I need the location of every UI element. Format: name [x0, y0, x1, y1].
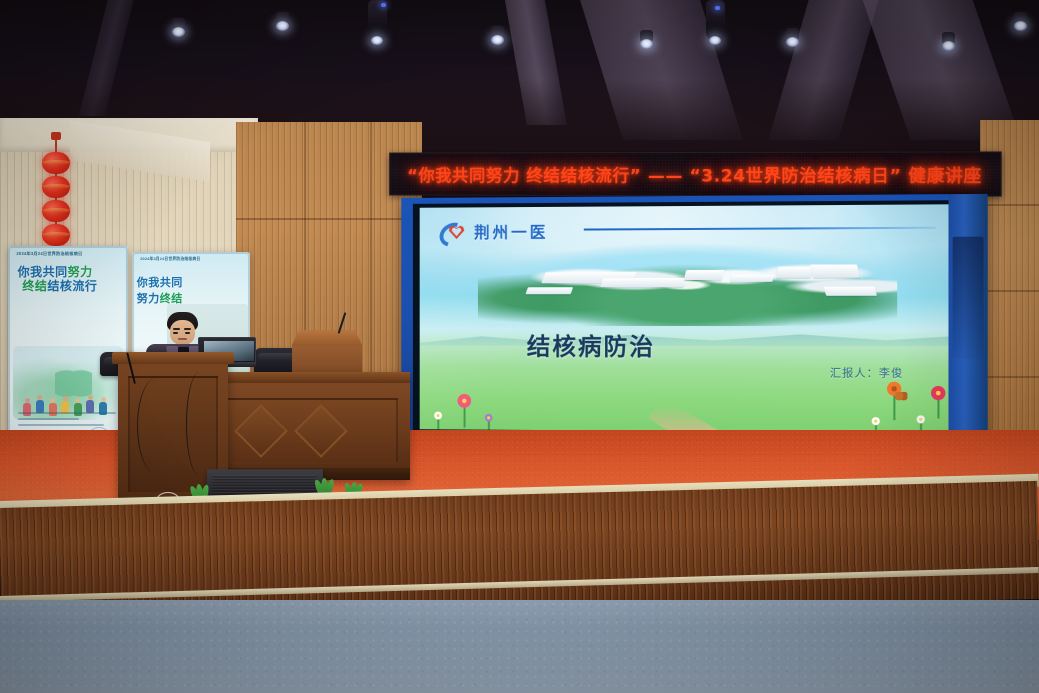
butterfly — [895, 392, 907, 402]
stage-spotlight — [274, 12, 291, 35]
stage-spotlight — [170, 18, 187, 41]
led-marquee-banner: “你我共同努力 终结结核流行” —— “3.24世界防治结核病日” 健康讲座 — [389, 151, 1002, 196]
red-lantern — [42, 176, 70, 198]
hospital-logo: 荆州一医 — [439, 219, 548, 243]
people-graphic — [19, 373, 116, 416]
banner-headline-line1: 你我共同 — [137, 274, 183, 290]
stage-spotlight — [940, 32, 957, 55]
red-lantern — [42, 224, 70, 246]
led-screen-frame: 荆州一医 结核病防治 汇报人：李俊 — [401, 194, 987, 441]
red-lantern — [42, 152, 70, 174]
banner-headline-line2: 终结结核流行 — [22, 277, 97, 294]
flower-white — [433, 412, 443, 430]
led-banner-text: “你我共同努力 终结结核流行” —— “3.24世界防治结核病日” 健康讲座 — [390, 161, 1001, 187]
hospital-logo-text: 荆州一医 — [474, 219, 548, 243]
mic-cable — [186, 372, 213, 476]
presentation-slide: 荆州一医 结核病防治 汇报人：李俊 — [420, 204, 953, 432]
heart-swoosh-icon — [439, 221, 468, 241]
side-lectern — [292, 330, 362, 374]
mic-cable — [137, 378, 176, 474]
stage-spotlight — [1012, 12, 1029, 35]
stage-spotlight — [638, 30, 655, 53]
stage-spotlight — [489, 26, 506, 49]
banner-header-text: 2024年3月24日世界防治结核病日 — [140, 257, 244, 262]
flower-pink — [457, 394, 473, 428]
flower-red — [930, 386, 946, 419]
red-lantern — [42, 200, 70, 222]
screen-bezel-right — [948, 194, 987, 441]
meadow-path — [608, 405, 725, 431]
indicator-led — [715, 6, 720, 10]
slide-presenter: 汇报人：李俊 — [830, 364, 903, 380]
banner-header-text: 2024年3月24日世界防治结核病日 — [16, 251, 122, 257]
hall-floor — [0, 600, 1039, 693]
indicator-led — [381, 3, 386, 7]
flower-purple — [484, 414, 494, 430]
stage-spotlight — [368, 0, 385, 54]
hospital-aerial-image — [478, 243, 897, 326]
stage-spotlight — [784, 28, 801, 51]
conference-hall-photo: 2024年3月24日世界防治结核病日 你我共同努力 终结结核流行 国家卫生健康委… — [0, 0, 1039, 693]
slide-title: 结核病防治 — [527, 327, 655, 362]
